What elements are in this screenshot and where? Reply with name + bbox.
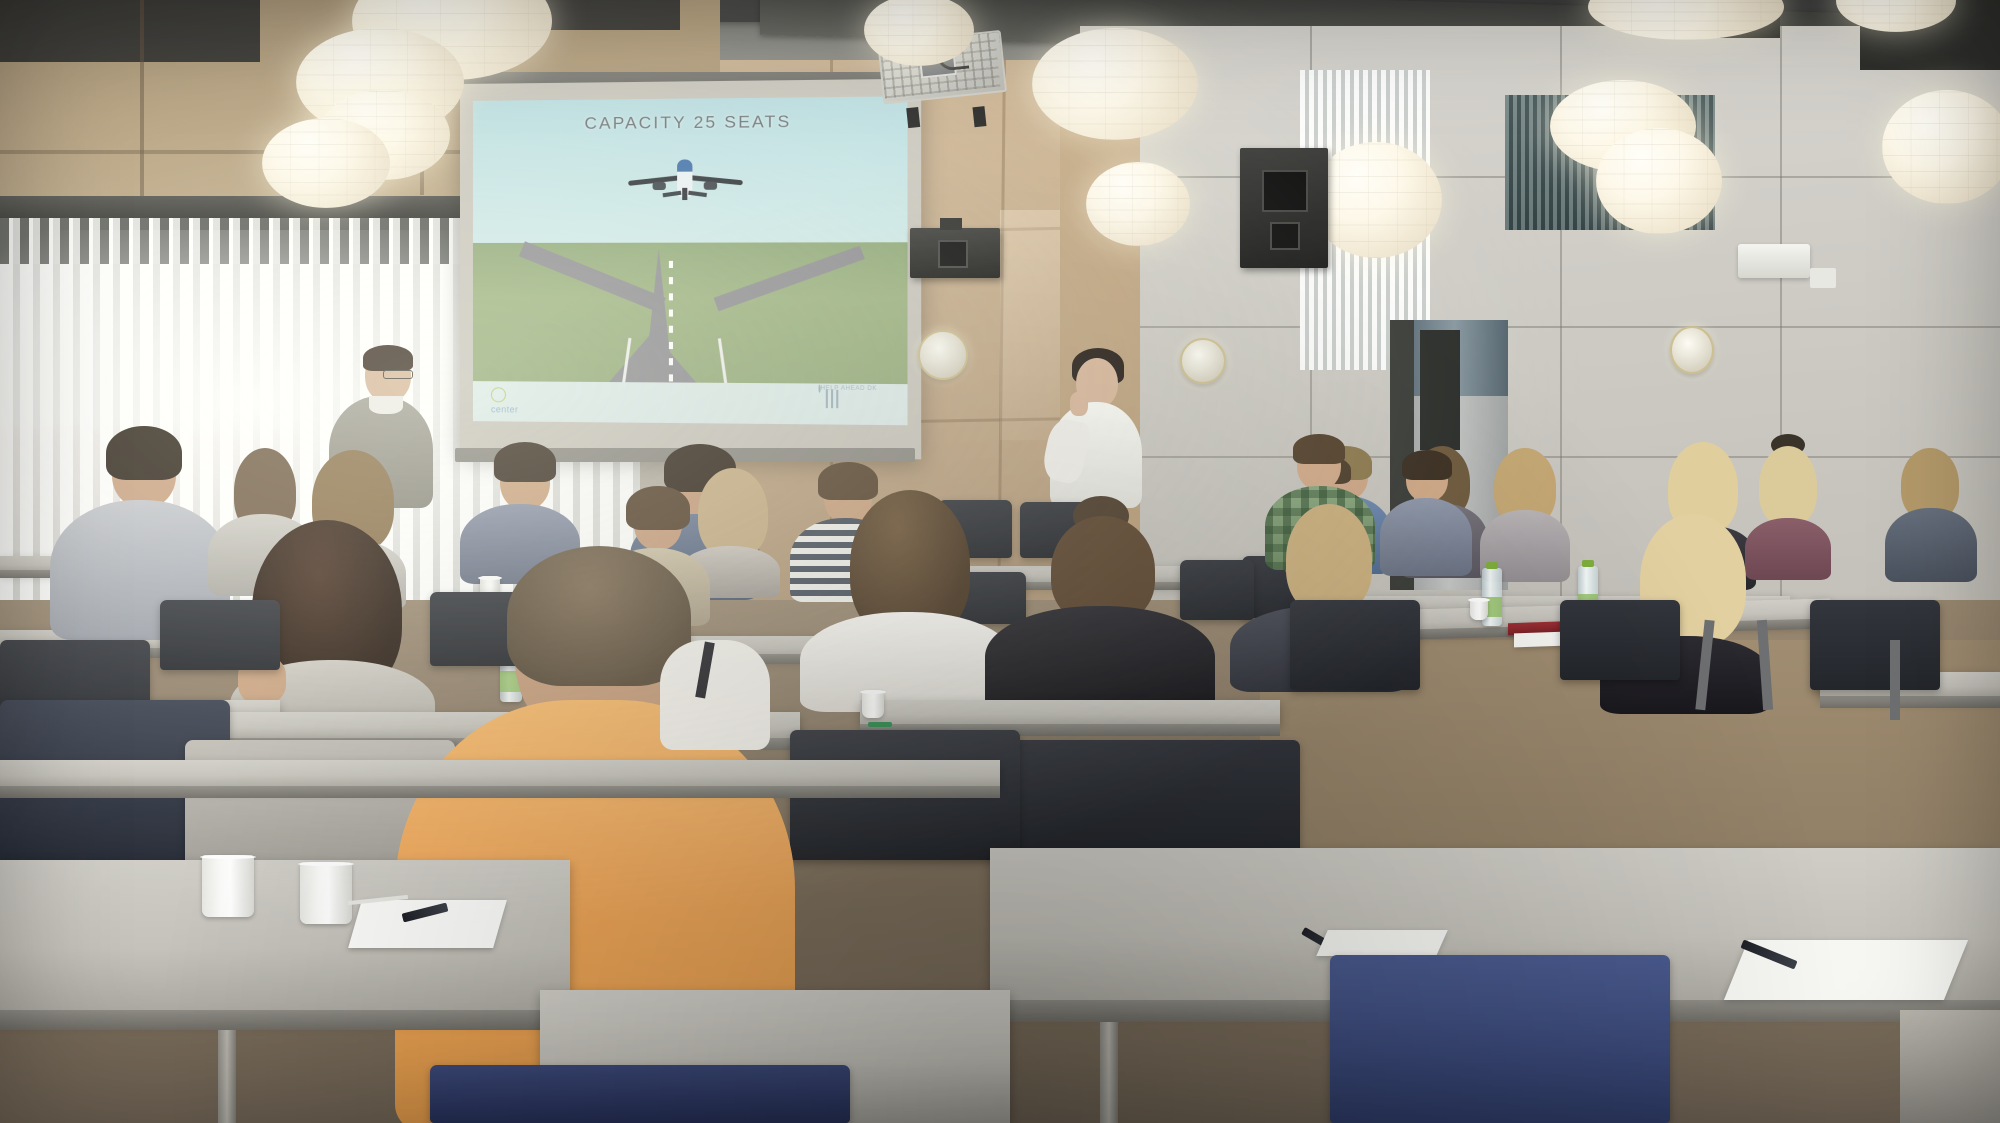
logo-right-mark bbox=[818, 385, 820, 393]
ceiling-grid-line bbox=[140, 0, 144, 200]
cup[interactable] bbox=[1470, 598, 1488, 620]
wall-cabinet bbox=[1420, 330, 1460, 450]
logo-left-mark bbox=[491, 387, 506, 402]
hair bbox=[818, 462, 878, 500]
paper-sheet[interactable] bbox=[1316, 930, 1448, 956]
table-edge bbox=[0, 1010, 570, 1030]
wall-sensor-icon bbox=[1810, 268, 1836, 288]
wall-sconce bbox=[918, 330, 968, 380]
airplane-engine-left bbox=[653, 182, 666, 190]
audience-member-black-top bbox=[985, 510, 1215, 710]
slide-title: CAPACITY 25 SEATS bbox=[473, 111, 908, 135]
paper-lantern bbox=[1882, 90, 2000, 204]
wall-sconce bbox=[1670, 326, 1714, 374]
speaker-cone-icon bbox=[938, 240, 968, 268]
audience-member bbox=[1480, 452, 1570, 580]
slide: center HELP AHEAD DK CAPACITY 25 SEATS bbox=[473, 96, 908, 425]
chair[interactable] bbox=[160, 600, 280, 670]
presenter-right-hand bbox=[1070, 392, 1088, 416]
paper-lantern bbox=[262, 118, 390, 208]
torso bbox=[800, 612, 1015, 712]
airplane-fin bbox=[682, 188, 687, 200]
table-leg bbox=[1100, 1022, 1118, 1123]
slide-runway-centerline bbox=[669, 261, 673, 399]
torso bbox=[985, 606, 1215, 712]
wall-speaker-mount bbox=[940, 218, 962, 230]
chair[interactable] bbox=[1560, 600, 1680, 680]
audience-shoulder bbox=[660, 640, 770, 750]
table-edge bbox=[0, 786, 1000, 798]
torso bbox=[1885, 508, 1977, 582]
hair bbox=[1286, 504, 1372, 614]
hair bbox=[1759, 446, 1817, 526]
table-leg bbox=[218, 1030, 236, 1123]
soffit-dark-recess bbox=[0, 0, 260, 62]
hair bbox=[494, 442, 556, 482]
airplane-engine-right bbox=[704, 182, 717, 190]
presenter-left-collar bbox=[369, 396, 403, 414]
table-front-mid bbox=[0, 760, 1000, 788]
hair bbox=[106, 426, 182, 480]
chair-frame bbox=[1890, 640, 1900, 720]
chair-front-center[interactable] bbox=[1330, 955, 1670, 1123]
paper-lantern bbox=[1032, 28, 1198, 140]
audience-member bbox=[1885, 452, 1977, 580]
table-edge bbox=[1820, 696, 2000, 708]
paper-lantern bbox=[1086, 162, 1190, 246]
chair[interactable] bbox=[1290, 600, 1420, 690]
speaker-cone-icon bbox=[1262, 170, 1308, 212]
bottle-cap bbox=[1582, 560, 1593, 567]
cup[interactable] bbox=[862, 690, 884, 718]
wall-speaker-center bbox=[1240, 148, 1328, 268]
paper-lantern bbox=[1596, 128, 1722, 234]
cup[interactable] bbox=[300, 862, 352, 924]
projection-screen: center HELP AHEAD DK CAPACITY 25 SEATS bbox=[460, 79, 921, 460]
chair[interactable] bbox=[1810, 600, 1940, 690]
wall-light-box bbox=[1738, 244, 1810, 278]
meeting-room-photo: center HELP AHEAD DK CAPACITY 25 SEATS bbox=[0, 0, 2000, 1123]
cup[interactable] bbox=[202, 855, 254, 917]
paper-lantern bbox=[1310, 142, 1442, 258]
chair[interactable] bbox=[1000, 740, 1300, 860]
presenter-left-hair bbox=[363, 345, 413, 371]
hair bbox=[626, 486, 690, 530]
audience-member-white-top bbox=[800, 500, 1015, 710]
chair-front-left[interactable] bbox=[430, 1065, 850, 1123]
presenter-right bbox=[1040, 348, 1150, 508]
slide-logo-left: center bbox=[491, 387, 582, 418]
wall-sconce bbox=[1180, 338, 1226, 384]
presenter-left-glasses-icon bbox=[383, 370, 413, 379]
airplane-tailplane-right bbox=[688, 191, 707, 197]
projector-foot bbox=[972, 106, 986, 127]
projector-foot bbox=[906, 107, 920, 128]
wall-speaker-left bbox=[910, 228, 1000, 278]
airplane-graphic bbox=[624, 157, 747, 200]
bottle-cap bbox=[1486, 562, 1497, 569]
hair bbox=[1293, 434, 1345, 464]
airplane-nose bbox=[677, 159, 692, 171]
slide-logo-right: HELP AHEAD DK bbox=[801, 385, 895, 423]
chair-frame bbox=[1900, 1010, 2000, 1123]
hair bbox=[1402, 450, 1452, 480]
table-row-front-mid-right bbox=[860, 700, 1280, 726]
pen[interactable] bbox=[868, 722, 892, 727]
slide-logo-left-label: center bbox=[491, 404, 518, 414]
speaker-cone-icon bbox=[1270, 222, 1300, 250]
